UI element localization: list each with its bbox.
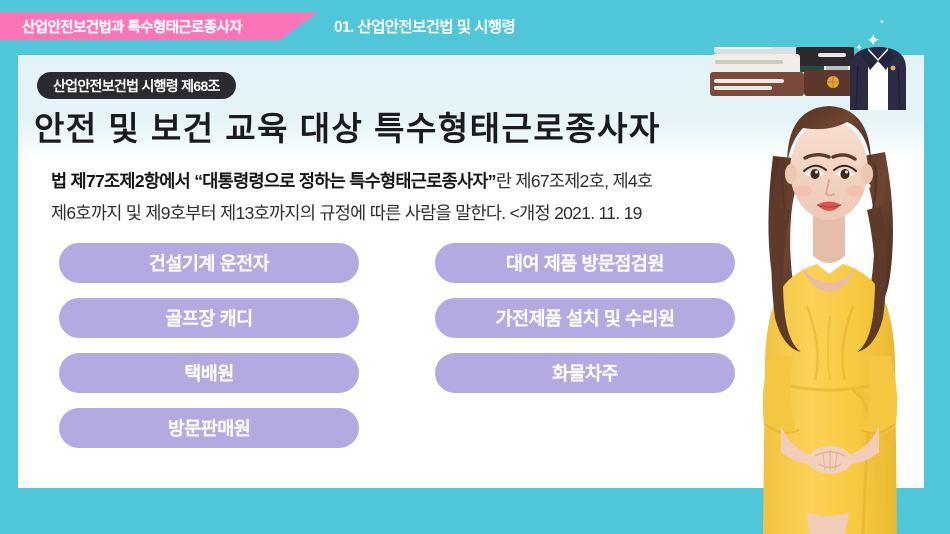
section-title: 01. 산업안전보건법 및 시행령 (334, 12, 515, 40)
presenter-photo (735, 60, 950, 534)
occupation-pill-label: 가전제품 설치 및 수리원 (495, 305, 674, 331)
body-paragraph: 법 제77조제2항에서 “대통령령으로 정하는 특수형태근로종사자”란 제67조… (51, 165, 841, 229)
occupation-pill[interactable]: 건설기계 운전자 (59, 243, 359, 283)
chapter-badge-label: 산업안전보건법과 특수형태근로종사자 (22, 16, 242, 37)
occupation-pill[interactable]: 가전제품 설치 및 수리원 (435, 298, 735, 338)
body-rest-line1: 란 제67조제2호, 제4호 (496, 171, 652, 191)
occupation-pill[interactable]: 골프장 캐디 (59, 298, 359, 338)
body-line2: 제6호까지 및 제9호부터 제13호까지의 규정에 따른 사람을 말한다. <개… (51, 203, 642, 223)
page-title: 안전 및 보건 교육 대상 특수형태근로종사자 (34, 102, 661, 150)
sparkle-icon: ✦ (866, 32, 880, 49)
occupation-pill[interactable]: 화물차주 (435, 353, 735, 393)
slide-stage: 산업안전보건법과 특수형태근로종사자 01. 산업안전보건법 및 시행령 ✦ ✦… (0, 0, 950, 534)
occupation-pill-label: 택배원 (184, 360, 234, 386)
body-bold-clause: 법 제77조제2항에서 “대통령령으로 정하는 특수형태근로종사자” (51, 171, 496, 191)
law-reference-badge: 산업안전보건법 시행령 제68조 (37, 72, 236, 99)
occupation-pill-label: 건설기계 운전자 (149, 250, 269, 276)
sparkle-icon: ✦ (879, 19, 885, 26)
law-reference-label: 산업안전보건법 시행령 제68조 (53, 76, 220, 96)
section-title-label: 01. 산업안전보건법 및 시행령 (334, 15, 515, 37)
occupation-pill[interactable]: 대여 제품 방문점검원 (435, 243, 735, 283)
pill-column-left: 건설기계 운전자 골프장 캐디 택배원 방문판매원 (59, 243, 359, 463)
occupation-pill-label: 골프장 캐디 (165, 305, 252, 331)
pill-column-right: 대여 제품 방문점검원 가전제품 설치 및 수리원 화물차주 (435, 243, 735, 408)
chapter-badge: 산업안전보건법과 특수형태근로종사자 (0, 12, 318, 40)
sparkle-icon: ✦ (855, 44, 863, 54)
occupation-pill-label: 화물차주 (552, 360, 618, 386)
occupation-pill-label: 대여 제품 방문점검원 (506, 250, 664, 276)
occupation-pill-label: 방문판매원 (168, 415, 251, 441)
occupation-pill[interactable]: 방문판매원 (59, 408, 359, 448)
occupation-pill[interactable]: 택배원 (59, 353, 359, 393)
